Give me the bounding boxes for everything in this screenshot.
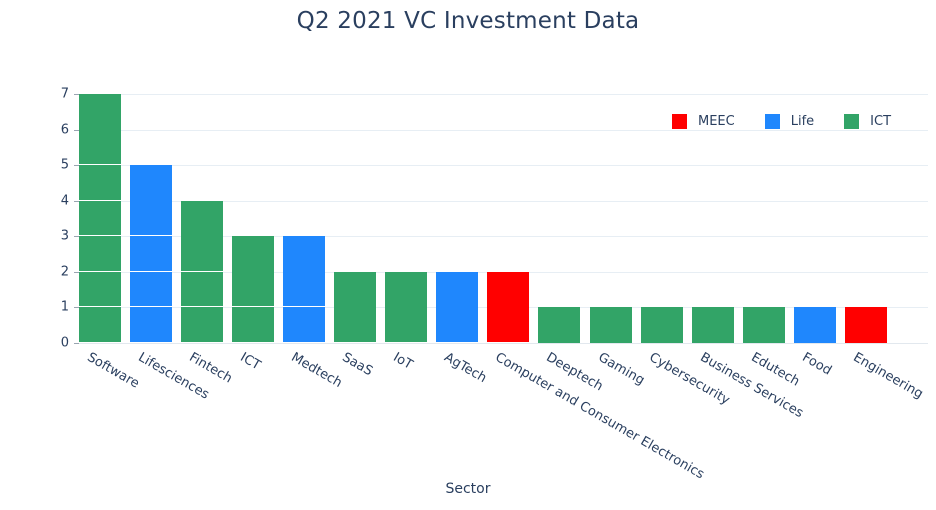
x-axis-tick-label: Food	[799, 350, 834, 379]
bar-segment[interactable]	[181, 236, 223, 272]
x-axis-tick-label: Medtech	[289, 350, 345, 391]
bar[interactable]	[590, 307, 632, 343]
bar[interactable]	[385, 272, 427, 343]
legend-label: Life	[791, 114, 814, 129]
x-axis-tick-label: Software	[85, 350, 142, 392]
gridline	[79, 165, 928, 166]
bar-segment[interactable]	[232, 307, 274, 343]
legend: MEECLifeICT	[672, 111, 891, 131]
bar[interactable]	[130, 165, 172, 343]
legend-item[interactable]: MEEC	[672, 114, 735, 129]
bar-segment[interactable]	[79, 130, 121, 166]
x-axis-tick-label: SaaS	[340, 350, 376, 379]
bar-segment[interactable]	[385, 272, 427, 308]
y-axis-title: Number	[0, 122, 3, 178]
bar-segment[interactable]	[743, 307, 785, 343]
bar[interactable]	[845, 307, 887, 343]
y-axis-tick-label: 0	[19, 336, 79, 351]
legend-label: MEEC	[698, 114, 735, 129]
bar-segment[interactable]	[130, 307, 172, 343]
bar-segment[interactable]	[385, 307, 427, 343]
x-axis-tick-label: IoT	[391, 350, 416, 373]
bar-segment[interactable]	[79, 165, 121, 201]
bar-segment[interactable]	[436, 307, 478, 343]
legend-item[interactable]: ICT	[844, 114, 891, 129]
y-axis-tick-label: 7	[19, 87, 79, 102]
bar[interactable]	[181, 201, 223, 343]
bar-segment[interactable]	[232, 236, 274, 272]
bar-segment[interactable]	[181, 272, 223, 308]
bar-chart: Q2 2021 VC Investment Data 01234567 Numb…	[0, 0, 936, 510]
bar-segment[interactable]	[283, 307, 325, 343]
x-axis-title: Sector	[0, 481, 936, 497]
bar-segment[interactable]	[794, 307, 836, 343]
x-axis-tick-label: ICT	[238, 350, 264, 373]
x-axis-tick-label: Engineering	[850, 350, 925, 402]
bar-segment[interactable]	[130, 165, 172, 201]
bar-segment[interactable]	[130, 272, 172, 308]
bar[interactable]	[641, 307, 683, 343]
bar-segment[interactable]	[334, 272, 376, 308]
y-axis-tick-label: 6	[19, 122, 79, 137]
y-axis-tick-label: 3	[19, 229, 79, 244]
bar[interactable]	[692, 307, 734, 343]
x-axis-tick-label: AgTech	[442, 350, 490, 386]
bar[interactable]	[232, 236, 274, 343]
bar-segment[interactable]	[590, 307, 632, 343]
y-axis-tick-label: 4	[19, 193, 79, 208]
bar-segment[interactable]	[181, 201, 223, 237]
bar[interactable]	[436, 272, 478, 343]
bar-segment[interactable]	[641, 307, 683, 343]
bar[interactable]	[79, 94, 121, 343]
bar-segment[interactable]	[130, 201, 172, 237]
bar[interactable]	[743, 307, 785, 343]
bar[interactable]	[794, 307, 836, 343]
bar-segment[interactable]	[283, 236, 325, 272]
bar-segment[interactable]	[79, 236, 121, 272]
plot-area	[79, 94, 928, 343]
y-axis-tick-label: 5	[19, 158, 79, 173]
legend-label: ICT	[870, 114, 891, 129]
bar-segment[interactable]	[487, 307, 529, 343]
gridline	[79, 94, 928, 95]
bar-segment[interactable]	[79, 307, 121, 343]
legend-item[interactable]: Life	[765, 114, 814, 129]
bar[interactable]	[283, 236, 325, 343]
legend-swatch-icon	[672, 114, 687, 129]
y-axis-tick-label: 1	[19, 300, 79, 315]
bar-segment[interactable]	[334, 307, 376, 343]
bar-segment[interactable]	[538, 307, 580, 343]
x-axis-line	[79, 343, 928, 344]
bar-segment[interactable]	[283, 272, 325, 308]
y-axis-tick-label: 2	[19, 264, 79, 279]
bar-segment[interactable]	[487, 272, 529, 308]
bar-segment[interactable]	[436, 272, 478, 308]
bar-segment[interactable]	[845, 307, 887, 343]
chart-title: Q2 2021 VC Investment Data	[0, 8, 936, 34]
bar[interactable]	[487, 272, 529, 343]
bar-segment[interactable]	[79, 94, 121, 130]
bar-segment[interactable]	[79, 201, 121, 237]
bar-segment[interactable]	[130, 236, 172, 272]
bar[interactable]	[538, 307, 580, 343]
bar-segment[interactable]	[181, 307, 223, 343]
bar-segment[interactable]	[692, 307, 734, 343]
bar-segment[interactable]	[232, 272, 274, 308]
legend-swatch-icon	[765, 114, 780, 129]
legend-swatch-icon	[844, 114, 859, 129]
bar-segment[interactable]	[79, 272, 121, 308]
bar[interactable]	[334, 272, 376, 343]
